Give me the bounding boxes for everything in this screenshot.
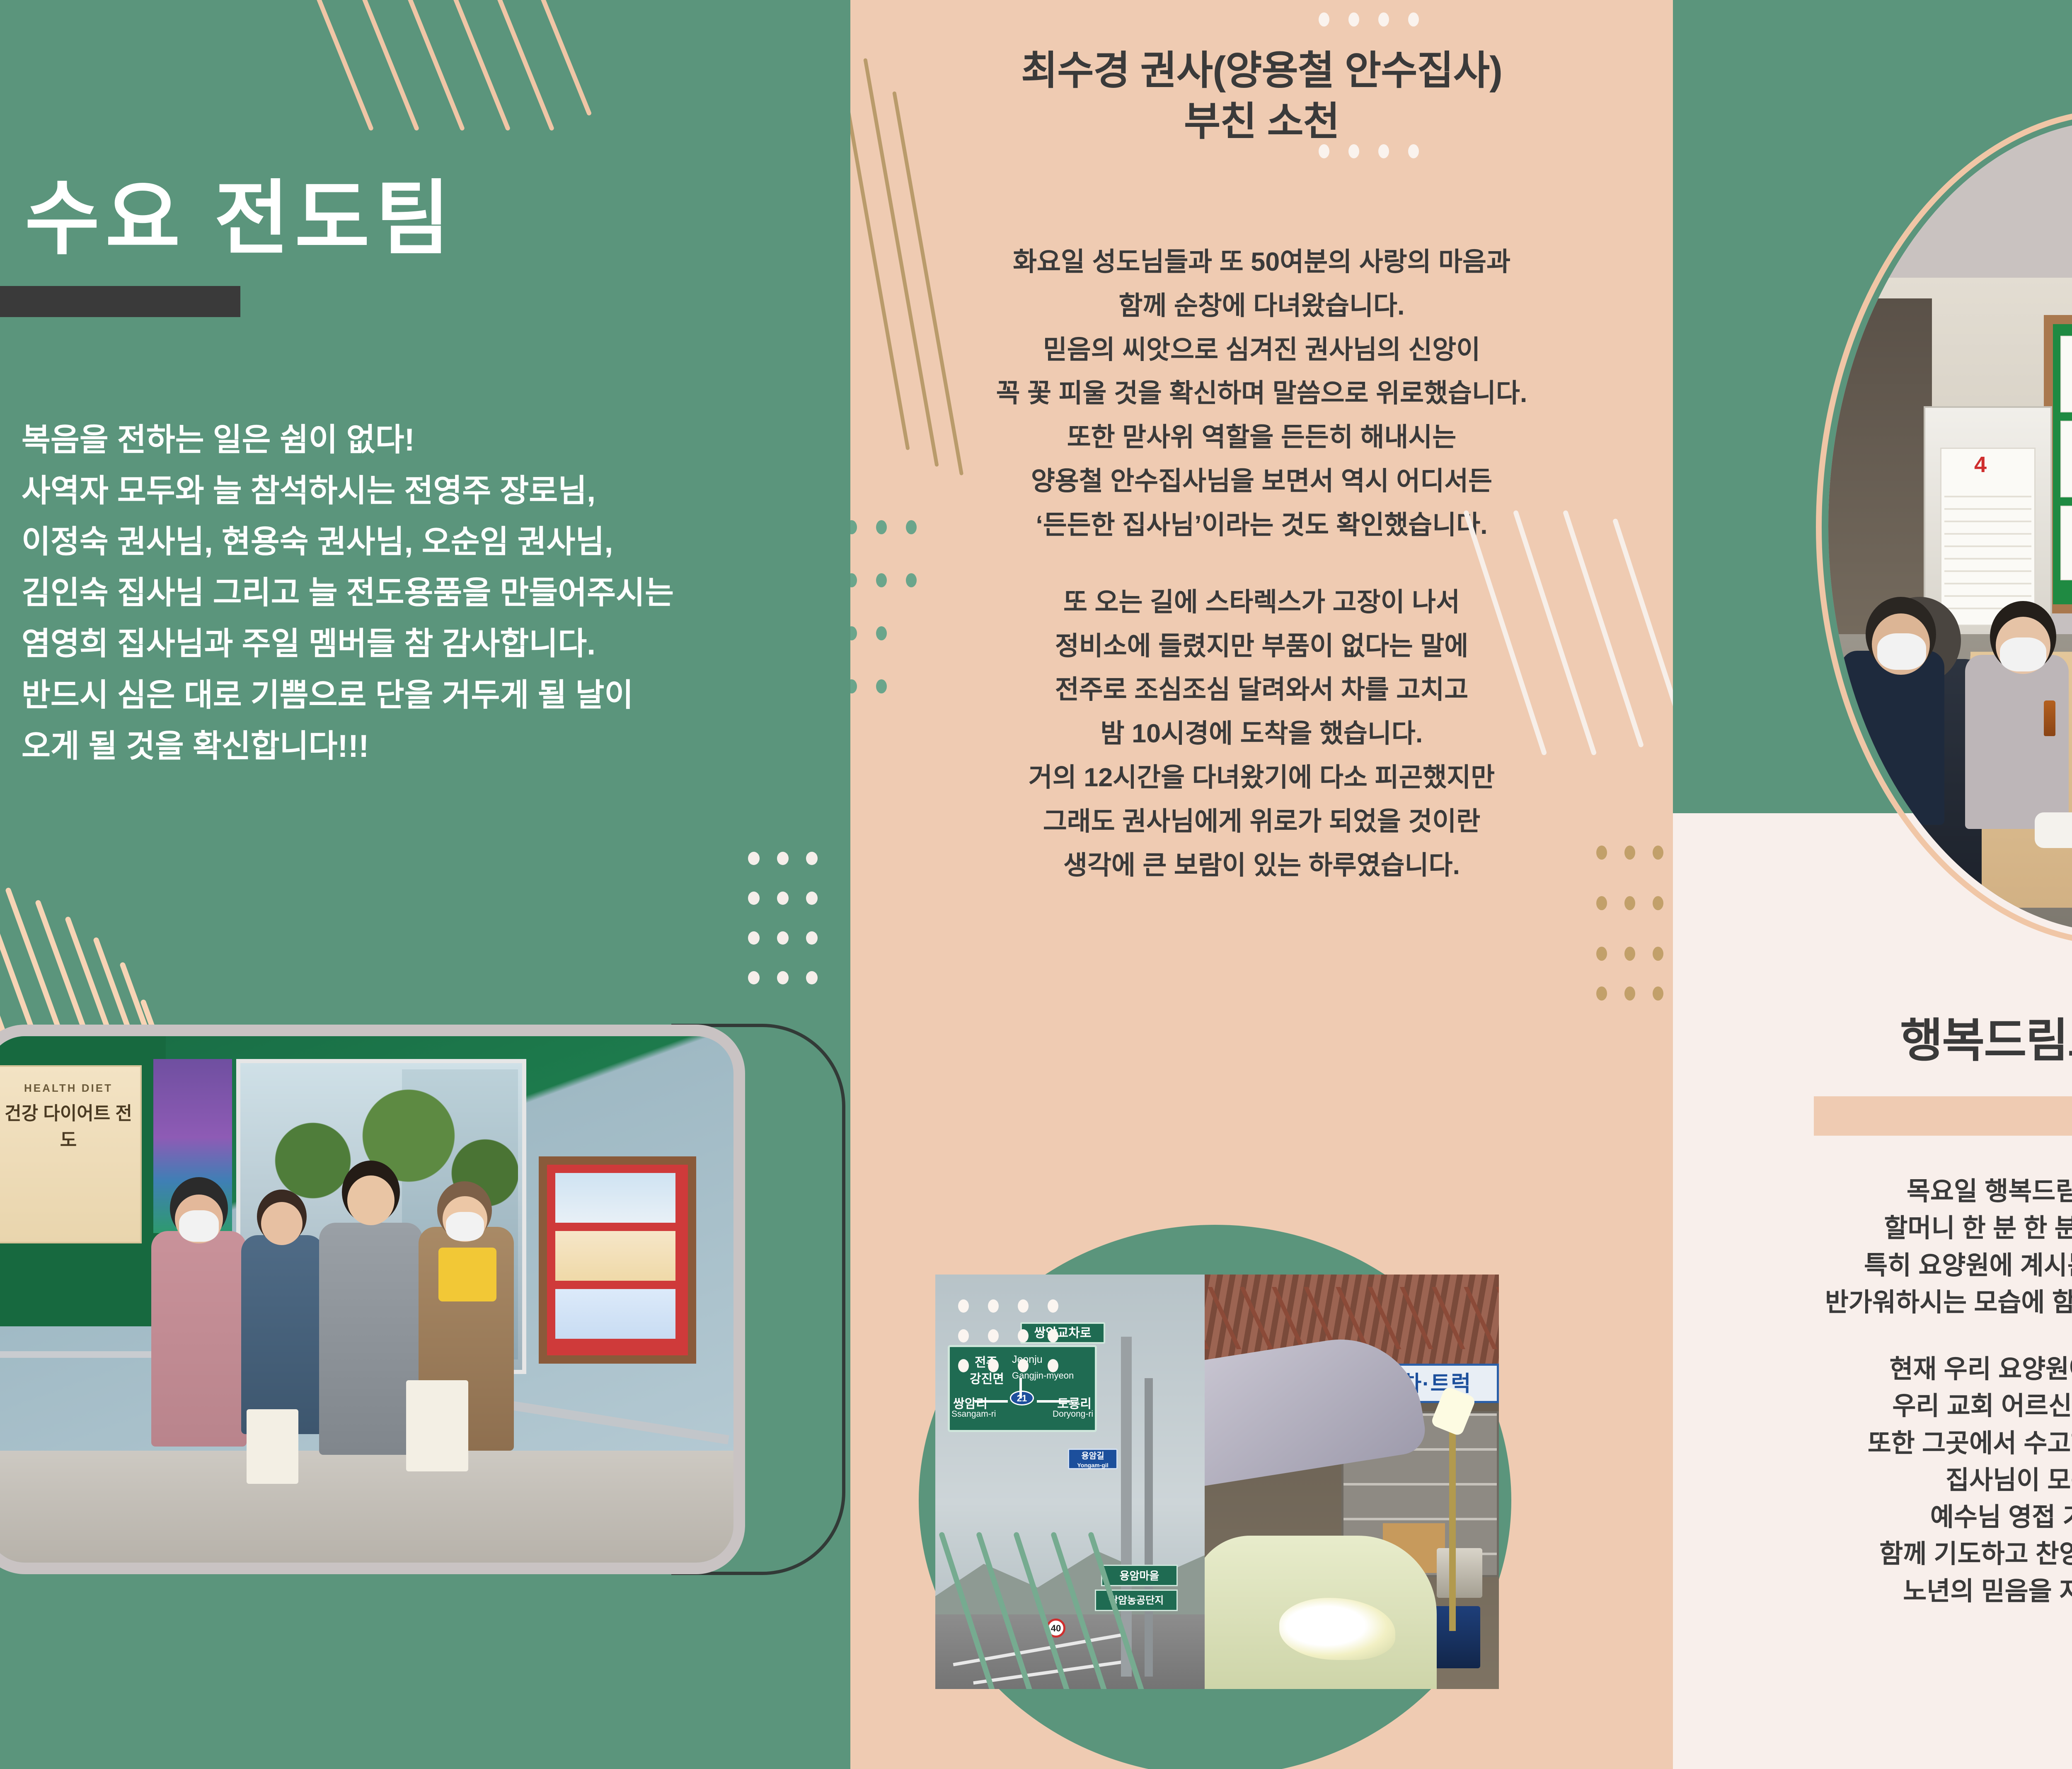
sign-directional: 전주 Jeonju 강진면 Gangjin-myeon 쌍암리 Ssangam-… bbox=[948, 1345, 1097, 1432]
right-body-line: 할머니 한 분 한 분을 기도해드렸습니다. bbox=[1673, 1210, 2072, 1247]
title-underline-bar bbox=[0, 286, 240, 317]
sign-left-en: Ssangam-ri bbox=[951, 1409, 996, 1419]
left-body-line: 오게 될 것을 확신합니다!!! bbox=[22, 721, 809, 772]
decor-dots-mid-top bbox=[1319, 12, 1460, 37]
right-body-text: 목요일 행복드림 요양원을 방문하여 할머니 한 분 한 분을 기도해드렸습니다… bbox=[1673, 1173, 2072, 1610]
sign-village: 용암마을 bbox=[1101, 1565, 1178, 1586]
photo-evangelism-team: HEALTH DIET 건강 다이어트 전도 bbox=[0, 1036, 733, 1563]
middle-body-line: 양용철 안수집사님을 보면서 역시 어디서든 bbox=[850, 460, 1673, 504]
left-body-line: 이정숙 권사님, 현용숙 권사님, 오순임 권사님, bbox=[22, 516, 809, 567]
middle-body-line: 꼭 꽃 피울 것을 확신하며 말씀으로 위로했습니다. bbox=[850, 372, 1673, 416]
calendar-month-number: 4 bbox=[1974, 452, 1987, 477]
right-body-line: 또한 그곳에서 수고하고 계시는 권사님들과 bbox=[1673, 1425, 2072, 1462]
right-body-line: 함께 기도하고 찬양을 하면서 어르신들의 bbox=[1673, 1536, 2072, 1573]
middle-body-line: 밤 10시경에 도착을 했습니다. bbox=[850, 712, 1673, 756]
right-heading-highlight-bar bbox=[1814, 1096, 2072, 1136]
sign-dest2-ko: 강진면 bbox=[970, 1369, 1004, 1387]
right-column: 4월 22일 교회 소식 알림판 bbox=[1673, 0, 2072, 1769]
middle-heading-line2: 부친 소천 bbox=[850, 97, 1673, 148]
sign-dest1-ko: 전주 bbox=[975, 1352, 997, 1370]
middle-body-line: 그래도 권사님에게 위로가 되었을 것이란 bbox=[850, 800, 1673, 844]
right-body-line: 반가워하시는 모습에 함께 간 모두도 기뻐했습니다. bbox=[1673, 1284, 2072, 1321]
middle-body-line: 화요일 성도님들과 또 50여분의 사랑의 마음과 bbox=[850, 240, 1673, 284]
newsletter-poster: 수요 전도팀 복음을 전하는 일은 쉼이 없다! 사역자 모두와 늘 참석하시는… bbox=[0, 0, 2072, 1769]
right-body-line: 예수님 영접 기도를 시켜드리고 bbox=[1673, 1499, 2072, 1536]
sign-route-number: 21 bbox=[1010, 1391, 1034, 1406]
right-body-line: 집사님이 모든 어르신들에게 bbox=[1673, 1462, 2072, 1499]
middle-body-line: 믿음의 씨앗으로 심겨진 권사님의 신앙이 bbox=[850, 328, 1673, 372]
right-body-line: 현재 우리 요양원에는 11분이 계시는데 bbox=[1673, 1351, 2072, 1388]
middle-body-text: 화요일 성도님들과 또 50여분의 사랑의 마음과 함께 순창에 다녀왔습니다.… bbox=[850, 240, 1673, 888]
photo-nursing-home-meeting: 알림판 4 비상대피로 bbox=[1828, 120, 2072, 933]
middle-heading: 최수경 권사(양용철 안수집사) 부친 소천 bbox=[850, 46, 1673, 148]
left-body-line: 사역자 모두와 늘 참석하시는 전영주 장로님, bbox=[22, 465, 809, 516]
middle-body-line: 전주로 조심조심 달려와서 차를 고치고 bbox=[850, 668, 1673, 712]
middle-body-line: 거의 12시간을 다녀왔기에 다소 피곤했지만 bbox=[850, 756, 1673, 800]
decor-dotgrid-left bbox=[748, 852, 827, 976]
decor-stripes-bottom-left bbox=[0, 854, 157, 1044]
decor-dots-mid-title bbox=[1319, 144, 1460, 169]
sign-right-en: Doryong-ri bbox=[1053, 1409, 1093, 1419]
photo-repair-shop: 승용차·트럭 bbox=[1205, 1275, 1499, 1689]
sign-blue-ko: 용암길 bbox=[1069, 1452, 1116, 1461]
middle-body-line: 정비소에 들렸지만 부품이 없다는 말에 bbox=[850, 625, 1673, 669]
photo-poster-subtitle: HEALTH DIET bbox=[4, 1082, 133, 1095]
middle-heading-line1: 최수경 권사(양용철 안수집사) bbox=[850, 46, 1673, 97]
middle-column: 최수경 권사(양용철 안수집사) 부친 소천 화요일 성도님들과 또 50여분의… bbox=[850, 0, 1673, 1769]
sign-speed-limit: 40 bbox=[1046, 1619, 1065, 1638]
photo-road-signs: 쌍암교차로 전주 Jeonju 강진면 Gangjin-myeon 쌍암리 Ss… bbox=[935, 1275, 1205, 1689]
right-body-line: 우리 교회 어르신들은 5분이 계십니다. bbox=[1673, 1388, 2072, 1425]
middle-body-line: ‘든든한 집사님’이라는 것도 확인했습니다. bbox=[850, 504, 1673, 548]
middle-body-line: 또한 맏사위 역할을 든든히 해내시는 bbox=[850, 416, 1673, 460]
photo-poster-title: 건강 다이어트 전도 bbox=[4, 1098, 133, 1151]
sign-blue-en: Yongam-gil bbox=[1069, 1461, 1116, 1470]
right-heading: 행복드림요양원 방문 bbox=[1673, 1003, 2072, 1070]
middle-body-line: 또 오는 길에 스타렉스가 고장이 나서 bbox=[850, 581, 1673, 625]
right-body-line: 목요일 행복드림 요양원을 방문하여 bbox=[1673, 1173, 2072, 1210]
middle-body-line: 함께 순창에 다녀왔습니다. bbox=[850, 284, 1673, 328]
left-column: 수요 전도팀 복음을 전하는 일은 쉼이 없다! 사역자 모두와 늘 참석하시는… bbox=[0, 0, 850, 1769]
sign-dest1-en: Jeonju bbox=[1012, 1354, 1043, 1366]
left-body-text: 복음을 전하는 일은 쉼이 없다! 사역자 모두와 늘 참석하시는 전영주 장로… bbox=[22, 414, 809, 772]
middle-body-line: 생각에 큰 보람이 있는 하루였습니다. bbox=[850, 844, 1673, 888]
left-body-line: 염영희 집사님과 주일 멤버들 참 감사합니다. bbox=[22, 618, 809, 669]
left-body-line: 김인숙 집사님 그리고 늘 전도용품을 만들어주시는 bbox=[22, 567, 809, 618]
sign-industrial: 쌍암농공단지 bbox=[1095, 1590, 1178, 1611]
sign-blue-road: 용암길 Yongam-gil bbox=[1068, 1449, 1118, 1469]
sign-intersection: 쌍암교차로 bbox=[1020, 1322, 1105, 1344]
right-body-line: 노년의 믿음을 지켜드리고 있습니다. bbox=[1673, 1573, 2072, 1610]
left-body-line: 복음을 전하는 일은 쉼이 없다! bbox=[22, 414, 809, 465]
left-body-line: 반드시 심은 대로 기쁨으로 단을 거두게 될 날이 bbox=[22, 670, 809, 721]
page-title: 수요 전도팀 bbox=[25, 178, 456, 259]
right-body-line: 특히 요양원에 계시는 우리 교회 어르신들이 bbox=[1673, 1247, 2072, 1284]
